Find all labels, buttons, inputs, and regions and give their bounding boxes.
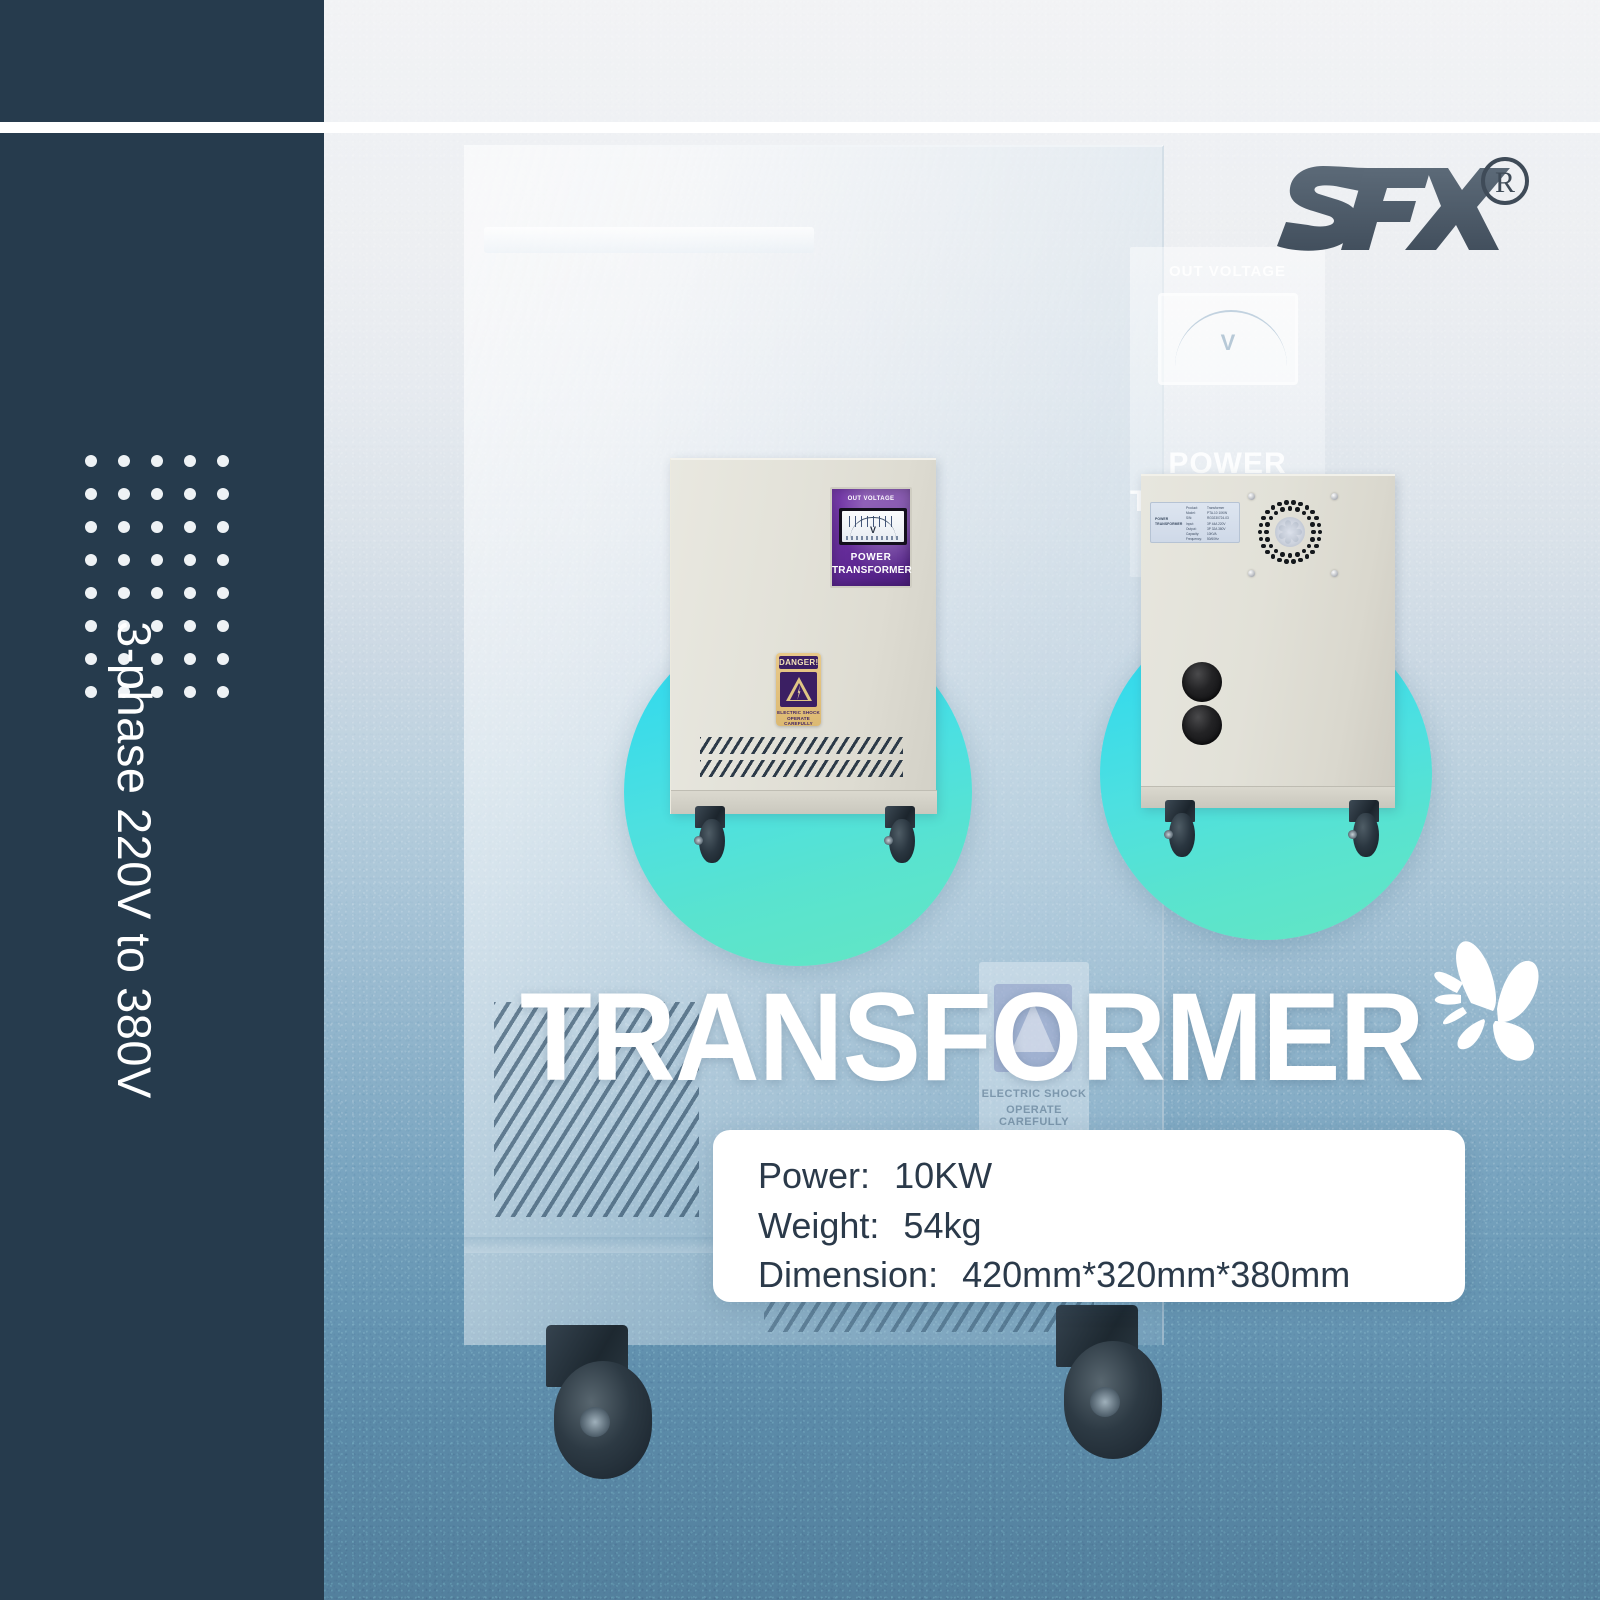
cable-grommet-lower <box>1182 705 1222 745</box>
fan-vent-hole <box>1305 554 1310 559</box>
caster-hub <box>694 836 703 845</box>
fan-vent-hole <box>1305 505 1310 510</box>
caster-hub <box>1090 1387 1120 1417</box>
background-caster-right <box>1034 1305 1204 1485</box>
fan-vent-hole <box>1274 549 1279 554</box>
nameplate-key: Frequency: <box>1186 537 1207 542</box>
spec-value: 420mm*320mm*380mm <box>962 1254 1350 1295</box>
panel-brand-line2: TRANSFORMER <box>832 565 910 576</box>
spec-label: Weight: <box>758 1205 879 1246</box>
fan-screw <box>1331 570 1338 577</box>
fan-vent-hole <box>1284 500 1289 505</box>
caster-hub <box>884 836 893 845</box>
back-unit-body: POWER TRANSFORMER Product:TransformerMod… <box>1141 474 1395 808</box>
fan-grille-icon <box>1256 498 1324 566</box>
fan-vent-hole <box>1264 530 1269 535</box>
product-banner: OUT VOLTAGE V POWER TRANSFORMER ELECTRIC… <box>0 0 1600 1600</box>
fan-vent-hole <box>1288 506 1293 511</box>
fan-vent-hole <box>1302 511 1307 516</box>
fan-vent-hole <box>1261 516 1266 521</box>
spec-row: Weight: 54kg <box>758 1201 1465 1251</box>
control-panel: OUT VOLTAGE V POWER TRANSFORMER <box>830 487 912 588</box>
fan-vent-hole <box>1259 523 1264 528</box>
sfx-logo: R <box>1240 150 1540 270</box>
fan-vent-hole <box>1274 511 1279 516</box>
fan-vent-hole <box>1291 559 1296 564</box>
fan-vent-hole <box>1288 553 1293 558</box>
fan-vent-hole <box>1280 552 1285 557</box>
fan-vent-hole <box>1311 530 1316 535</box>
vertical-tagline: 3-phase 220V to 380V <box>107 621 162 1099</box>
page-title: TRANSFORMER <box>520 975 1424 1100</box>
specification-card: Power: 10KW Weight: 54kg Dimension: 420m… <box>713 1130 1465 1302</box>
nameplate-brand-line2: TRANSFORMER <box>1155 522 1183 527</box>
fan-vent-hole <box>1295 552 1300 557</box>
front-unit-body: OUT VOLTAGE V POWER TRANSFORMER DANGER! <box>670 458 936 814</box>
fan-vent-hole <box>1265 510 1270 515</box>
background-caster-left <box>524 1325 694 1505</box>
fan-screw <box>1248 493 1255 500</box>
butterfly-icon <box>1405 925 1565 1080</box>
fan-vent-hole <box>1277 558 1282 563</box>
fan-vent-hole <box>1314 516 1319 521</box>
caster-hub <box>1164 830 1173 839</box>
fan-hub <box>1275 517 1305 547</box>
fan-vent-hole <box>1318 530 1323 535</box>
nameplate-brand: POWER TRANSFORMER <box>1155 506 1183 539</box>
voltmeter-symbol: V <box>842 525 904 535</box>
top-white-divider <box>0 122 1600 133</box>
fan-screw <box>1248 570 1255 577</box>
danger-line1: ELECTRIC SHOCK <box>776 710 821 715</box>
hazard-triangle-icon <box>786 677 812 701</box>
analog-voltmeter: V <box>839 508 907 545</box>
fan-vent-hole <box>1295 507 1300 512</box>
transformer-front-unit: OUT VOLTAGE V POWER TRANSFORMER DANGER! <box>670 458 936 814</box>
spec-value: 10KW <box>894 1155 992 1196</box>
spec-row: Power: 10KW <box>758 1151 1465 1201</box>
fan-vent-hole <box>1298 502 1303 507</box>
caster-hub <box>580 1407 610 1437</box>
fan-vent-hole <box>1259 537 1264 542</box>
nameplate-value: 50/60Hz <box>1207 537 1219 542</box>
voltmeter-face: V <box>842 511 904 542</box>
fan-vent-hole <box>1261 544 1266 549</box>
front-unit-vent-lower <box>700 760 903 777</box>
front-unit-vent-upper <box>700 737 903 754</box>
cable-grommet-upper <box>1182 662 1222 702</box>
fan-vent-hole <box>1291 500 1296 505</box>
spec-label: Power: <box>758 1155 870 1196</box>
fan-vent-hole <box>1298 558 1303 563</box>
fan-vent-hole <box>1269 516 1274 521</box>
fan-vent-hole <box>1280 507 1285 512</box>
panel-brand-line1: POWER <box>832 552 910 563</box>
fan-vent-hole <box>1307 516 1312 521</box>
ghost-meter-symbol: V <box>1161 330 1295 356</box>
danger-heading: DANGER! <box>779 656 818 669</box>
fan-vent-hole <box>1277 502 1282 507</box>
fan-vent-hole <box>1302 549 1307 554</box>
spec-label: Dimension: <box>758 1254 938 1295</box>
nameplate-spec-rows: Product:TransformerModel:PTA-10 10KWS/N:… <box>1186 506 1235 539</box>
fan-vent-hole <box>1265 550 1270 555</box>
fan-vent-hole <box>1307 544 1312 549</box>
fan-screw <box>1331 493 1338 500</box>
fan-vent-hole <box>1284 559 1289 564</box>
fan-vent-hole <box>1265 522 1270 527</box>
product-nameplate: POWER TRANSFORMER Product:TransformerMod… <box>1150 502 1240 543</box>
fan-vent-hole <box>1317 537 1322 542</box>
nameplate-row: Frequency:50/60Hz <box>1186 537 1235 542</box>
ghost-danger-line2: OPERATE CAREFULLY <box>979 1104 1089 1128</box>
cabinet-top-bar <box>484 227 814 253</box>
ghost-voltmeter: V <box>1158 293 1298 385</box>
caster-hub <box>1348 830 1357 839</box>
fan-vent-hole <box>1310 537 1315 542</box>
fan-vent-hole <box>1314 544 1319 549</box>
danger-warning-label: DANGER! ELECTRIC SHOCK OPERATE CAREFULLY <box>776 653 821 726</box>
danger-line2: OPERATE CAREFULLY <box>776 716 821 726</box>
voltmeter-footer-text <box>846 536 900 540</box>
fan-vent-hole <box>1310 550 1315 555</box>
fan-vent-hole <box>1317 523 1322 528</box>
out-voltage-label: OUT VOLTAGE <box>832 496 910 502</box>
spec-value: 54kg <box>903 1205 981 1246</box>
fan-vent-hole <box>1310 522 1315 527</box>
fan-vent-hole <box>1258 530 1263 535</box>
registered-mark: R <box>1495 166 1515 199</box>
transformer-back-unit: POWER TRANSFORMER Product:TransformerMod… <box>1141 474 1395 808</box>
fan-vent-hole <box>1271 554 1276 559</box>
fan-vent-hole <box>1271 505 1276 510</box>
fan-vent-hole <box>1269 544 1274 549</box>
hazard-symbol-box <box>780 672 817 707</box>
fan-vent-hole <box>1265 537 1270 542</box>
fan-vent-hole <box>1310 510 1315 515</box>
vertical-tagline-wrap: 3-phase 220V to 380V <box>0 0 324 1600</box>
spec-row: Dimension: 420mm*320mm*380mm <box>758 1250 1465 1300</box>
